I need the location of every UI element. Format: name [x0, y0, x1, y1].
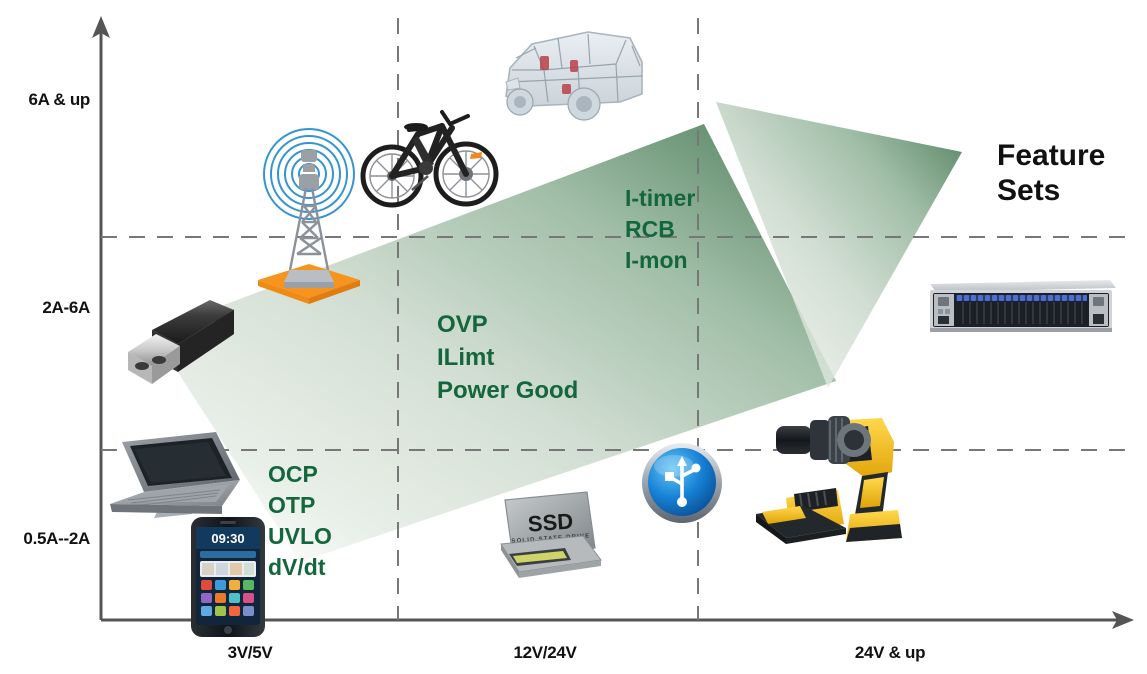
feature-uvlo: UVLO	[268, 521, 332, 552]
feature-ilimt: ILimt	[437, 341, 578, 374]
title-line-1: Feature	[997, 138, 1105, 173]
feature-rcb: RCB	[625, 214, 695, 245]
cell-tower-image	[248, 122, 370, 306]
feature-block-mid: OVP ILimt Power Good	[437, 308, 578, 407]
diagram-canvas: 6A & up 2A-6A 0.5A--2A 3V/5V 12V/24V 24V…	[0, 0, 1147, 674]
feature-i-timer: I-timer	[625, 183, 695, 214]
ssd-label: SSD	[527, 508, 574, 536]
e-bike-image	[356, 94, 496, 216]
power-drill-image	[742, 402, 932, 546]
x-tick-label-3v5v: 3V/5V	[180, 643, 320, 663]
feature-dvdt: dV/dt	[268, 552, 332, 583]
y-tick-label-05a: 0.5A--2A	[0, 529, 90, 549]
usb-logo-image	[640, 440, 724, 524]
car-image	[492, 18, 648, 128]
title-line-2: Sets	[997, 173, 1105, 208]
phone-clock: 09:30	[211, 531, 244, 546]
feature-ocp: OCP	[268, 459, 332, 490]
feature-power-good: Power Good	[437, 374, 578, 407]
feature-block-high: I-timer RCB I-mon	[625, 183, 695, 276]
diagram-title: Feature Sets	[997, 138, 1105, 208]
y-tick-label-2a: 2A-6A	[0, 298, 90, 318]
ssd-image: SSD SOLID STATE DRIVE	[483, 478, 619, 590]
y-tick-label-6a: 6A & up	[0, 90, 90, 110]
feature-block-low: OCP OTP UVLO dV/dt	[268, 459, 332, 583]
rack-server-image	[920, 274, 1120, 336]
smartphone-image: 09:30	[190, 516, 266, 638]
usb-c-connector-image	[118, 296, 240, 390]
feature-ovp: OVP	[437, 308, 578, 341]
feature-otp: OTP	[268, 490, 332, 521]
x-tick-label-12v24v: 12V/24V	[475, 643, 615, 663]
x-tick-label-24v-up: 24V & up	[820, 643, 960, 663]
feature-i-mon: I-mon	[625, 245, 695, 276]
